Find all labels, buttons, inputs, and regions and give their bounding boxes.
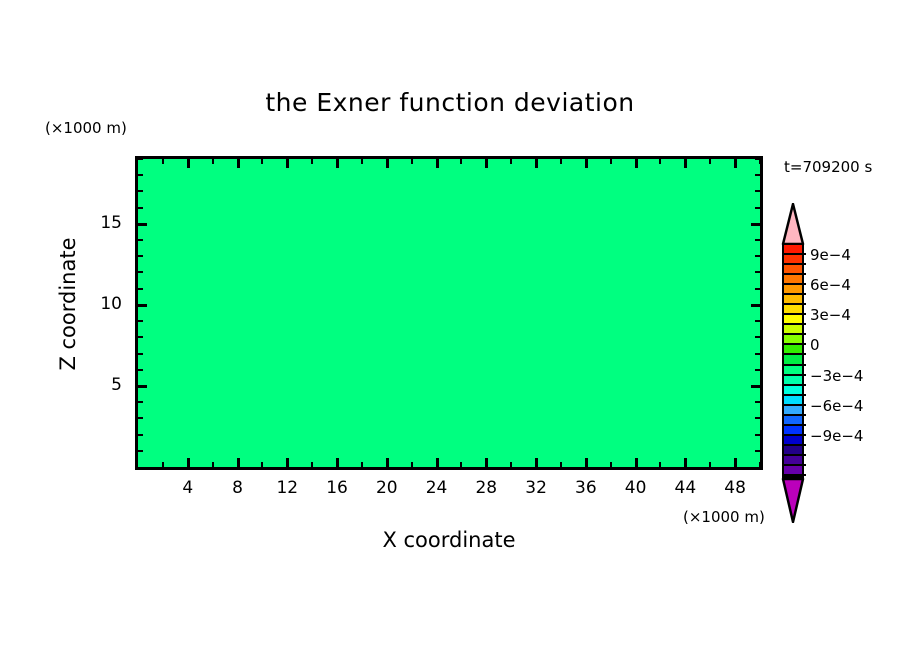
- y-tick-minor-right: [755, 369, 760, 371]
- y-tick-minor-right: [755, 190, 760, 192]
- y-tick-minor-right: [755, 320, 760, 322]
- colorbar-band: [782, 335, 804, 345]
- colorbar-band: [782, 285, 804, 295]
- y-tick-minor-right: [755, 417, 760, 419]
- page-title: the Exner function deviation: [0, 88, 904, 117]
- x-tick-minor: [560, 462, 562, 467]
- y-tick-major: [138, 304, 147, 307]
- x-tick-minor-top: [212, 159, 214, 164]
- colorbar-label: 0: [810, 336, 820, 354]
- y-tick-minor-right: [755, 434, 760, 436]
- contour-plot-area: [135, 156, 763, 470]
- colorbar-band: [782, 456, 804, 466]
- x-tick-major: [336, 458, 339, 467]
- y-tick-minor-right: [755, 353, 760, 355]
- x-tick-major: [585, 458, 588, 467]
- colorbar-under-arrow: [781, 477, 805, 523]
- y-tick-minor-right: [755, 158, 760, 160]
- y-tick-minor-right: [755, 207, 760, 209]
- colorbar-label: 9e−4: [810, 246, 851, 264]
- colorbar-band: [782, 275, 804, 285]
- y-tick-minor: [138, 190, 143, 192]
- y-tick-minor-right: [755, 255, 760, 257]
- colorbar-over-arrow: [781, 203, 805, 245]
- x-tick-label: 48: [705, 478, 765, 498]
- x-tick-minor: [610, 462, 612, 467]
- y-tick-minor-right: [755, 239, 760, 241]
- colorbar-band: [782, 355, 804, 365]
- x-tick-minor: [361, 462, 363, 467]
- x-tick-major: [485, 458, 488, 467]
- x-tick-major: [187, 458, 190, 467]
- y-tick-minor: [138, 401, 143, 403]
- y-tick-minor: [138, 239, 143, 241]
- x-tick-major-top: [684, 159, 687, 168]
- y-tick-minor: [138, 255, 143, 257]
- x-tick-minor-top: [311, 159, 313, 164]
- x-tick-minor-top: [411, 159, 413, 164]
- colorbar-label: −9e−4: [810, 427, 863, 445]
- x-tick-minor-top: [162, 159, 164, 164]
- x-tick-minor: [212, 462, 214, 467]
- x-tick-major-top: [336, 159, 339, 168]
- x-tick-major-top: [585, 159, 588, 168]
- y-tick-minor-right: [755, 271, 760, 273]
- y-axis-title: Z coordinate: [56, 224, 80, 384]
- y-tick-minor-right: [755, 336, 760, 338]
- y-tick-minor: [138, 320, 143, 322]
- y-tick-major: [138, 223, 147, 226]
- y-tick-minor: [138, 417, 143, 419]
- x-tick-major-top: [485, 159, 488, 168]
- x-tick-minor: [411, 462, 413, 467]
- colorbar-band: [782, 396, 804, 406]
- colorbar-band: [782, 265, 804, 275]
- colorbar-band: [782, 345, 804, 355]
- x-tick-major: [684, 458, 687, 467]
- colorbar-band: [782, 366, 804, 376]
- y-tick-minor-right: [755, 288, 760, 290]
- y-tick-minor-right: [755, 174, 760, 176]
- y-tick-minor: [138, 174, 143, 176]
- colorbar-band: [782, 305, 804, 315]
- colorbar-band: [782, 436, 804, 446]
- x-tick-minor-top: [460, 159, 462, 164]
- colorbar-label: −6e−4: [810, 397, 863, 415]
- time-annotation: t=709200 s: [784, 158, 872, 176]
- y-tick-minor: [138, 207, 143, 209]
- y-tick-major-right: [751, 223, 760, 226]
- x-tick-minor: [659, 462, 661, 467]
- y-tick-minor: [138, 336, 143, 338]
- x-tick-minor: [460, 462, 462, 467]
- contour-field: [138, 159, 760, 467]
- colorbar-band: [782, 315, 804, 325]
- colorbar-band: [782, 376, 804, 386]
- y-tick-minor: [138, 271, 143, 273]
- y-tick-minor: [138, 288, 143, 290]
- x-tick-minor: [261, 462, 263, 467]
- x-tick-major: [436, 458, 439, 467]
- y-tick-minor: [138, 158, 143, 160]
- y-axis-unit-label: (×1000 m): [45, 119, 127, 137]
- x-tick-minor: [311, 462, 313, 467]
- colorbar-band: [782, 466, 804, 476]
- colorbar-band: [782, 245, 804, 255]
- x-tick-major-top: [635, 159, 638, 168]
- x-tick-major: [535, 458, 538, 467]
- y-tick-minor: [138, 434, 143, 436]
- x-tick-minor: [162, 462, 164, 467]
- x-axis-title: X coordinate: [135, 528, 763, 552]
- colorbar-band: [782, 386, 804, 396]
- x-tick-major: [386, 458, 389, 467]
- colorbar-band: [782, 295, 804, 305]
- colorbar-label: 6e−4: [810, 276, 851, 294]
- y-tick-minor-right: [755, 450, 760, 452]
- x-tick-minor-top: [361, 159, 363, 164]
- colorbar-band: [782, 325, 804, 335]
- colorbar-band: [782, 426, 804, 436]
- y-tick-major-right: [751, 304, 760, 307]
- x-tick-major-top: [535, 159, 538, 168]
- x-tick-minor: [759, 462, 761, 467]
- x-tick-major-top: [436, 159, 439, 168]
- x-tick-minor-top: [261, 159, 263, 164]
- x-tick-major-top: [734, 159, 737, 168]
- x-tick-minor-top: [659, 159, 661, 164]
- colorbar-label: −3e−4: [810, 367, 863, 385]
- y-tick-major: [138, 385, 147, 388]
- x-tick-major: [734, 458, 737, 467]
- x-axis-unit-label: (×1000 m): [683, 508, 765, 526]
- x-tick-major: [237, 458, 240, 467]
- x-tick-major-top: [286, 159, 289, 168]
- x-tick-major-top: [187, 159, 190, 168]
- y-tick-minor-right: [755, 401, 760, 403]
- colorbar-band: [782, 406, 804, 416]
- y-tick-minor: [138, 450, 143, 452]
- colorbar-band: [782, 416, 804, 426]
- y-tick-minor: [138, 369, 143, 371]
- x-tick-major: [286, 458, 289, 467]
- x-tick-major: [635, 458, 638, 467]
- x-tick-minor: [709, 462, 711, 467]
- x-tick-minor-top: [709, 159, 711, 164]
- x-tick-major-top: [237, 159, 240, 168]
- x-tick-major-top: [386, 159, 389, 168]
- colorbar-band: [782, 255, 804, 265]
- colorbar: [782, 245, 804, 476]
- x-tick-minor-top: [510, 159, 512, 164]
- colorbar-band: [782, 446, 804, 456]
- x-tick-minor-top: [610, 159, 612, 164]
- colorbar-label: 3e−4: [810, 306, 851, 324]
- y-tick-major-right: [751, 385, 760, 388]
- x-tick-minor-top: [560, 159, 562, 164]
- y-tick-minor: [138, 353, 143, 355]
- x-tick-minor: [510, 462, 512, 467]
